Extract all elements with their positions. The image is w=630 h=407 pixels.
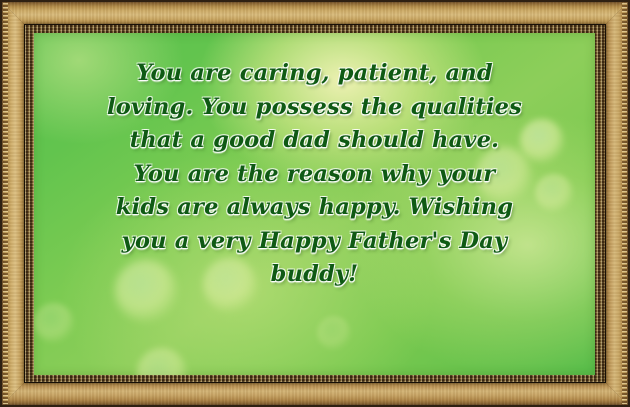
message-line-7: buddy! xyxy=(48,258,581,292)
greeting-message: You are caring, patient, and loving. You… xyxy=(34,57,595,292)
fathers-day-greeting-card: You are caring, patient, and loving. You… xyxy=(0,0,630,407)
bokeh-circle xyxy=(317,316,351,350)
bokeh-circle xyxy=(137,348,187,375)
message-line-4: You are the reason why your xyxy=(48,158,581,192)
message-line-5: kids are always happy. Wishing xyxy=(48,191,581,225)
bokeh-circle xyxy=(34,303,74,343)
message-line-1: You are caring, patient, and xyxy=(48,57,581,91)
card-background: You are caring, patient, and loving. You… xyxy=(34,33,595,375)
message-line-3: that a good dad should have. xyxy=(48,124,581,158)
message-line-2: loving. You possess the qualities xyxy=(48,91,581,125)
message-line-6: you a very Happy Father's Day xyxy=(48,225,581,259)
